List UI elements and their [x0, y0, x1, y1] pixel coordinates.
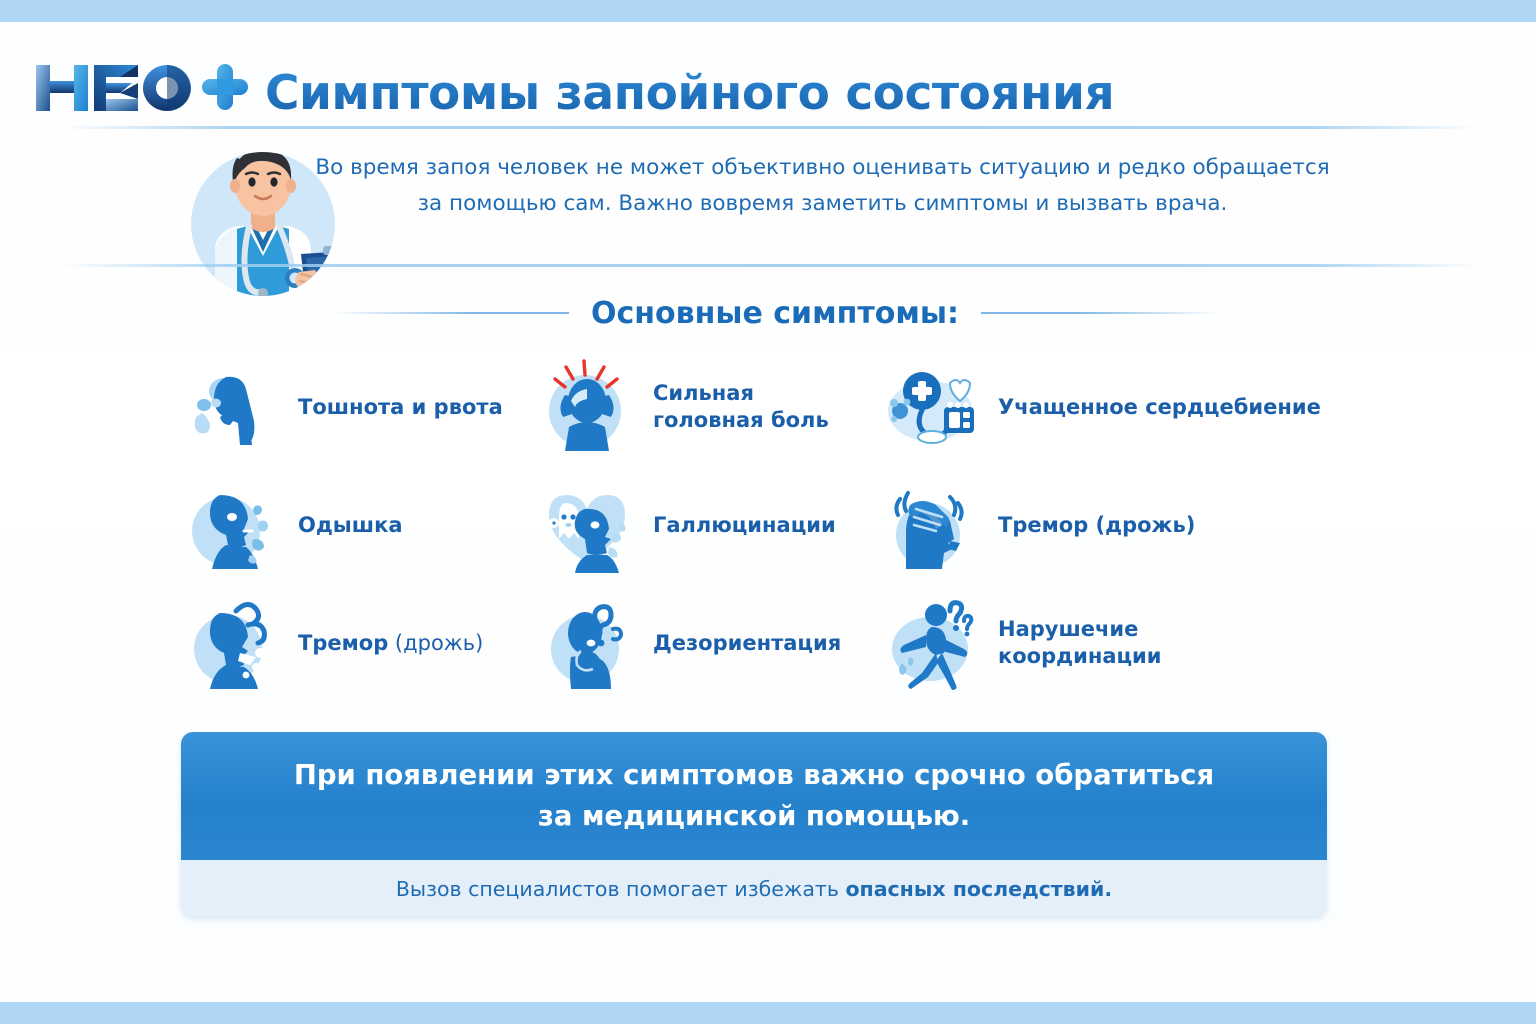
callout-line-1: При появлении этих симптомов важно срочн…	[294, 755, 1214, 796]
symptom-item: Одышка	[180, 469, 535, 581]
symptom-item: Дезориентация	[535, 587, 880, 699]
symptom-label-line2: головная боль	[653, 407, 829, 434]
callout-footer-text: Вызов специалистов помогает избежать опа…	[396, 877, 1112, 901]
symptom-label: Галлюцинации	[653, 512, 836, 539]
symptom-label-line1: Сильная	[653, 380, 829, 407]
infographic-page: Симптомы запойного состояния	[0, 0, 1536, 1024]
callout-line-2: за медицинской помощью.	[538, 796, 970, 837]
symptom-label: Тремор (дрожь)	[998, 512, 1195, 539]
symptom-item: Галлюцинации	[535, 469, 880, 581]
confused-person-icon	[535, 591, 639, 695]
symptoms-heading-text: Основные симптомы:	[591, 296, 959, 331]
symptom-item: Учащенное сердцебиение	[880, 351, 1330, 463]
symptom-label-line1: Учащенное сердцебиение	[998, 395, 1321, 419]
symptom-label-line1: Тремор	[298, 631, 388, 655]
neo-plus-logo	[34, 60, 249, 116]
symptom-label: Дезориентация	[653, 630, 841, 657]
symptom-item: Сильная головная боль	[535, 351, 880, 463]
symptom-item: Тремор (дрожь)	[180, 587, 535, 699]
callout-footer-emphasis: опасных последствий.	[845, 877, 1112, 901]
callout-footer: Вызов специалистов помогает избежать опа…	[181, 860, 1327, 917]
symptom-label: Учащенное сердцебиение	[998, 394, 1321, 421]
page-title: Симптомы запойного состояния	[265, 66, 1114, 121]
callout-footer-prefix: Вызов специалистов помогает избежать	[396, 877, 846, 901]
symptom-label-line1: Одышка	[298, 513, 403, 537]
heading-line-right	[981, 312, 1220, 314]
symptom-item: Тошнота и рвота	[180, 351, 535, 463]
bottom-decorative-band	[0, 1002, 1536, 1024]
shortness-of-breath-icon	[180, 473, 284, 577]
callout-main-banner: При появлении этих симптомов важно срочн…	[181, 732, 1327, 860]
call-to-action-callout: При появлении этих симптомов важно срочн…	[181, 732, 1327, 917]
symptom-label: Одышка	[298, 512, 403, 539]
header-divider	[60, 126, 1480, 129]
hands-on-head-tremor-icon	[880, 473, 984, 577]
heading-line-left	[330, 312, 569, 314]
symptom-label-line1: Нарушечие	[998, 616, 1162, 643]
intro-section: Во время запоя человек не может объектив…	[175, 132, 1335, 310]
symptom-label-line1: Тремор (дрожь)	[998, 513, 1195, 537]
symptom-label: Тошнота и рвота	[298, 394, 503, 421]
symptom-label: Тремор (дрожь)	[298, 630, 483, 657]
symptoms-section-heading: Основные симптомы:	[330, 290, 1220, 336]
symptom-item: Тремор (дрожь)	[880, 469, 1330, 581]
intro-paragraph: Во время запоя человек не может объектив…	[315, 150, 1330, 222]
heart-monitor-icon	[880, 355, 984, 459]
symptom-label-line1: Дезориентация	[653, 631, 841, 655]
symptom-label: Нарушечие координации	[998, 616, 1162, 670]
symptom-item: Нарушечие координации	[880, 587, 1330, 699]
intro-divider	[60, 264, 1480, 267]
symptom-label-line2: координации	[998, 643, 1162, 670]
shaking-person-icon	[180, 591, 284, 695]
intro-line-1: Во время запоя человек не может объектив…	[315, 155, 1329, 180]
symptom-label: Сильная головная боль	[653, 380, 829, 434]
symptom-label-suffix: (дрожь)	[388, 631, 483, 655]
symptom-label-line1: Тошнота и рвота	[298, 395, 503, 419]
symptom-label-line1: Галлюцинации	[653, 513, 836, 537]
top-decorative-band	[0, 0, 1536, 22]
ghost-hallucination-icon	[535, 473, 639, 577]
page-header: Симптомы запойного состояния	[0, 22, 1536, 127]
unsteady-walk-icon	[880, 591, 984, 695]
person-vomiting-icon	[180, 355, 284, 459]
symptoms-grid: Тошнота и рвота	[180, 348, 1360, 698]
headache-icon	[535, 355, 639, 459]
intro-line-2: за помощью сам. Важно вовремя заметить с…	[418, 191, 1228, 216]
